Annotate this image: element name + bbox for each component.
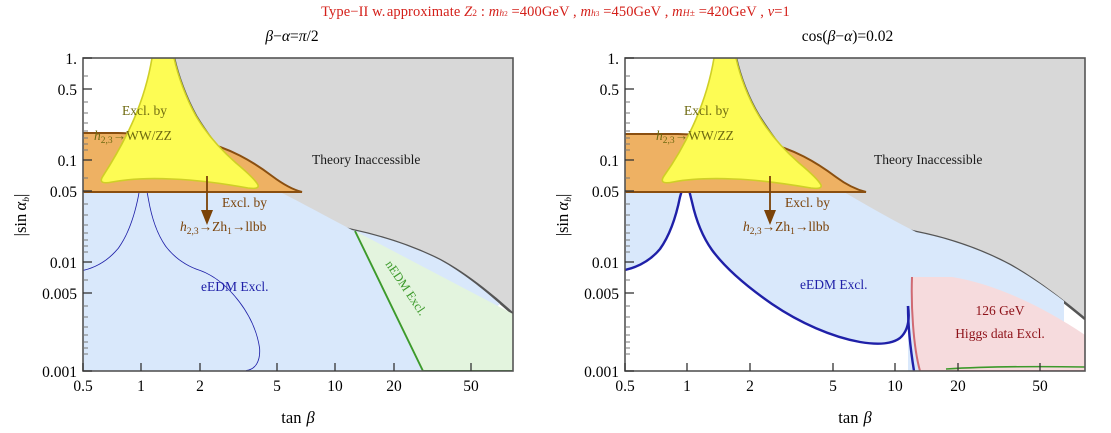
xaxis-tan-right: tan <box>838 408 858 427</box>
ytick-right-0: 1. <box>607 51 619 68</box>
plot-panel-left: β−α=π/2 <box>0 24 556 433</box>
label-theory-inaccessible-right: Theory Inaccessible <box>874 152 982 167</box>
ytick-right-6: 0.001 <box>584 364 619 381</box>
panel-left-svg: Theory Inaccessible Excl. by h2,3→WW/ZZ … <box>0 24 556 433</box>
xaxis-beta-left: β <box>305 408 315 427</box>
xaxis-label-left: tanβ <box>281 408 315 427</box>
wwzz-l2c-left: →WW/ZZ <box>113 128 172 143</box>
xtick-right-4: 10 <box>887 378 903 395</box>
xtick-left-1: 1 <box>137 378 145 395</box>
xtick-right-1: 1 <box>683 378 691 395</box>
svg-text:Excl. by: Excl. by <box>684 103 729 118</box>
ytick-right-3: 0.05 <box>592 184 619 201</box>
xtick-left-6: 50 <box>463 378 479 395</box>
zh-l2b-left: 2,3 <box>187 227 199 237</box>
ytick-left-1: 0.5 <box>58 82 78 99</box>
higgs-l2-right: Higgs data Excl. <box>955 326 1045 341</box>
xtick-left-3: 5 <box>273 378 281 395</box>
svg-text:Excl. by: Excl. by <box>785 195 830 210</box>
xtick-right-5: 20 <box>950 378 966 395</box>
xaxis-label-right: tanβ <box>838 408 872 427</box>
ytick-right-4: 0.01 <box>592 255 619 272</box>
label-eedm-left: eEDM Excl. <box>201 279 268 294</box>
xtick-right-3: 5 <box>829 378 837 395</box>
panel-right-svg: Theory Inaccessible Excl. by h2,3→WW/ZZ … <box>548 24 1111 433</box>
wwzz-l1-right: Excl. by <box>684 103 729 118</box>
zh-l1-right: Excl. by <box>785 195 830 210</box>
xtick-left-5: 20 <box>386 378 402 395</box>
svg-text:Excl. by: Excl. by <box>122 103 167 118</box>
xaxis-beta-right: β <box>862 408 872 427</box>
xtick-right-2: 2 <box>746 378 754 395</box>
ytick-left-4: 0.01 <box>50 255 77 272</box>
ytick-left-6: 0.001 <box>42 364 77 381</box>
ytick-right-5: 0.005 <box>584 286 619 303</box>
xtick-left-0: 0.5 <box>73 378 93 395</box>
zh-l1-left: Excl. by <box>222 195 267 210</box>
zh-l2c-left: →Zh <box>199 219 228 234</box>
yaxis-label-right: |sin αb| <box>553 194 574 237</box>
label-eedm-right: eEDM Excl. <box>800 277 867 292</box>
zh-l2c-right: →Zh <box>762 219 791 234</box>
svg-text:Excl. by: Excl. by <box>222 195 267 210</box>
ytick-left-0: 1. <box>65 51 77 68</box>
yaxis-label-left: |sin αb| <box>11 194 32 237</box>
higgs-l1-right: 126 GeV <box>975 303 1024 318</box>
ytick-left-2: 0.1 <box>58 153 77 170</box>
xtick-right-0: 0.5 <box>615 378 635 395</box>
ytick-right-2: 0.1 <box>600 153 619 170</box>
wwzz-l1-left: Excl. by <box>122 103 167 118</box>
zh-l2b-right: 2,3 <box>750 227 762 237</box>
plot-panel-right: cos(β−α)=0.02 <box>548 24 1111 433</box>
xtick-left-2: 2 <box>196 378 204 395</box>
ytick-left-5: 0.005 <box>42 286 77 303</box>
ytick-left-3: 0.05 <box>50 184 77 201</box>
figure-suptitle: Type−II w. approximate Z2 : mh2 =400GeV … <box>0 4 1111 21</box>
xtick-left-4: 10 <box>327 378 343 395</box>
wwzz-l2b-left: 2,3 <box>101 136 113 146</box>
xaxis-tan-left: tan <box>281 408 301 427</box>
wwzz-l2b-right: 2,3 <box>663 136 675 146</box>
label-theory-inaccessible-left: Theory Inaccessible <box>312 152 420 167</box>
zh-l2e-left: →llbb <box>232 219 267 234</box>
zh-l2e-right: →llbb <box>795 219 830 234</box>
ytick-right-1: 0.5 <box>600 82 620 99</box>
xtick-right-6: 50 <box>1032 378 1048 395</box>
wwzz-l2c-right: →WW/ZZ <box>675 128 734 143</box>
